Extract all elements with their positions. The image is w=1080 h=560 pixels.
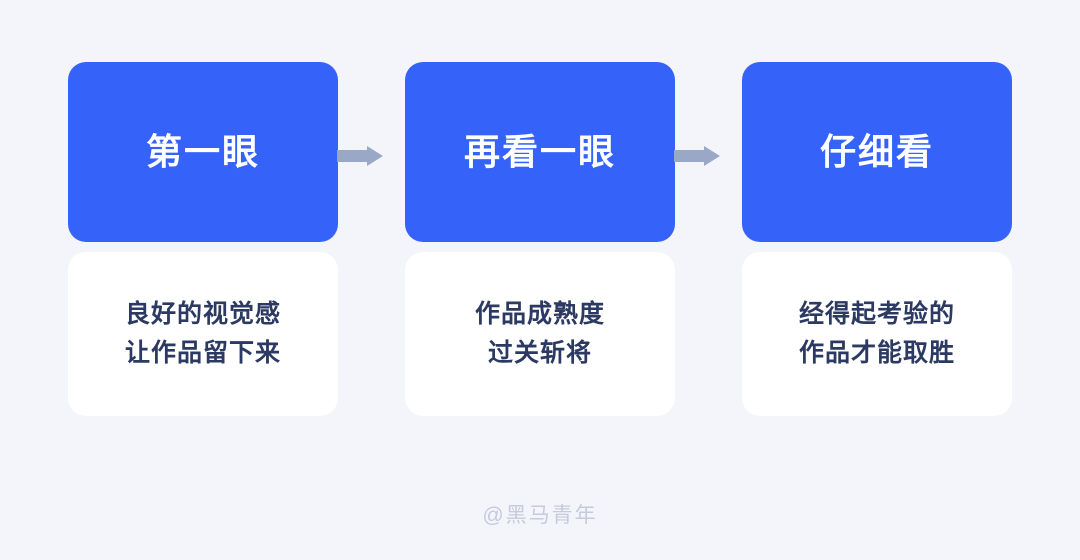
step-1-description-line-1: 良好的视觉感 (125, 295, 281, 334)
step-3-description: 经得起考验的 作品才能取胜 (799, 295, 955, 373)
step-2-title: 再看一眼 (464, 134, 616, 170)
step-3-body-card: 经得起考验的 作品才能取胜 (742, 252, 1012, 416)
step-2-description-line-1: 作品成熟度 (475, 295, 605, 334)
watermark-credit: @黑马青年 (0, 499, 1080, 529)
step-3-description-line-1: 经得起考验的 (799, 295, 955, 334)
process-step-2: 再看一眼 作品成熟度 过关斩将 (405, 62, 675, 416)
arrow-right-icon-2 (674, 146, 720, 166)
process-step-1: 第一眼 良好的视觉感 让作品留下来 (68, 62, 338, 416)
step-1-description-line-2: 让作品留下来 (125, 334, 281, 373)
step-2-description: 作品成熟度 过关斩将 (475, 295, 605, 373)
step-3-header-card: 仔细看 (742, 62, 1012, 242)
process-step-3: 仔细看 经得起考验的 作品才能取胜 (742, 62, 1012, 416)
step-3-description-line-2: 作品才能取胜 (799, 334, 955, 373)
diagram-canvas: 第一眼 良好的视觉感 让作品留下来 再看一眼 作品成熟度 过关斩将 (0, 0, 1080, 560)
step-3-title: 仔细看 (820, 134, 934, 170)
step-1-description: 良好的视觉感 让作品留下来 (125, 295, 281, 373)
step-1-header-card: 第一眼 (68, 62, 338, 242)
step-1-body-card: 良好的视觉感 让作品留下来 (68, 252, 338, 416)
step-1-title: 第一眼 (146, 134, 260, 170)
step-2-header-card: 再看一眼 (405, 62, 675, 242)
step-2-description-line-2: 过关斩将 (475, 334, 605, 373)
arrow-right-icon-1 (337, 146, 383, 166)
step-2-body-card: 作品成熟度 过关斩将 (405, 252, 675, 416)
